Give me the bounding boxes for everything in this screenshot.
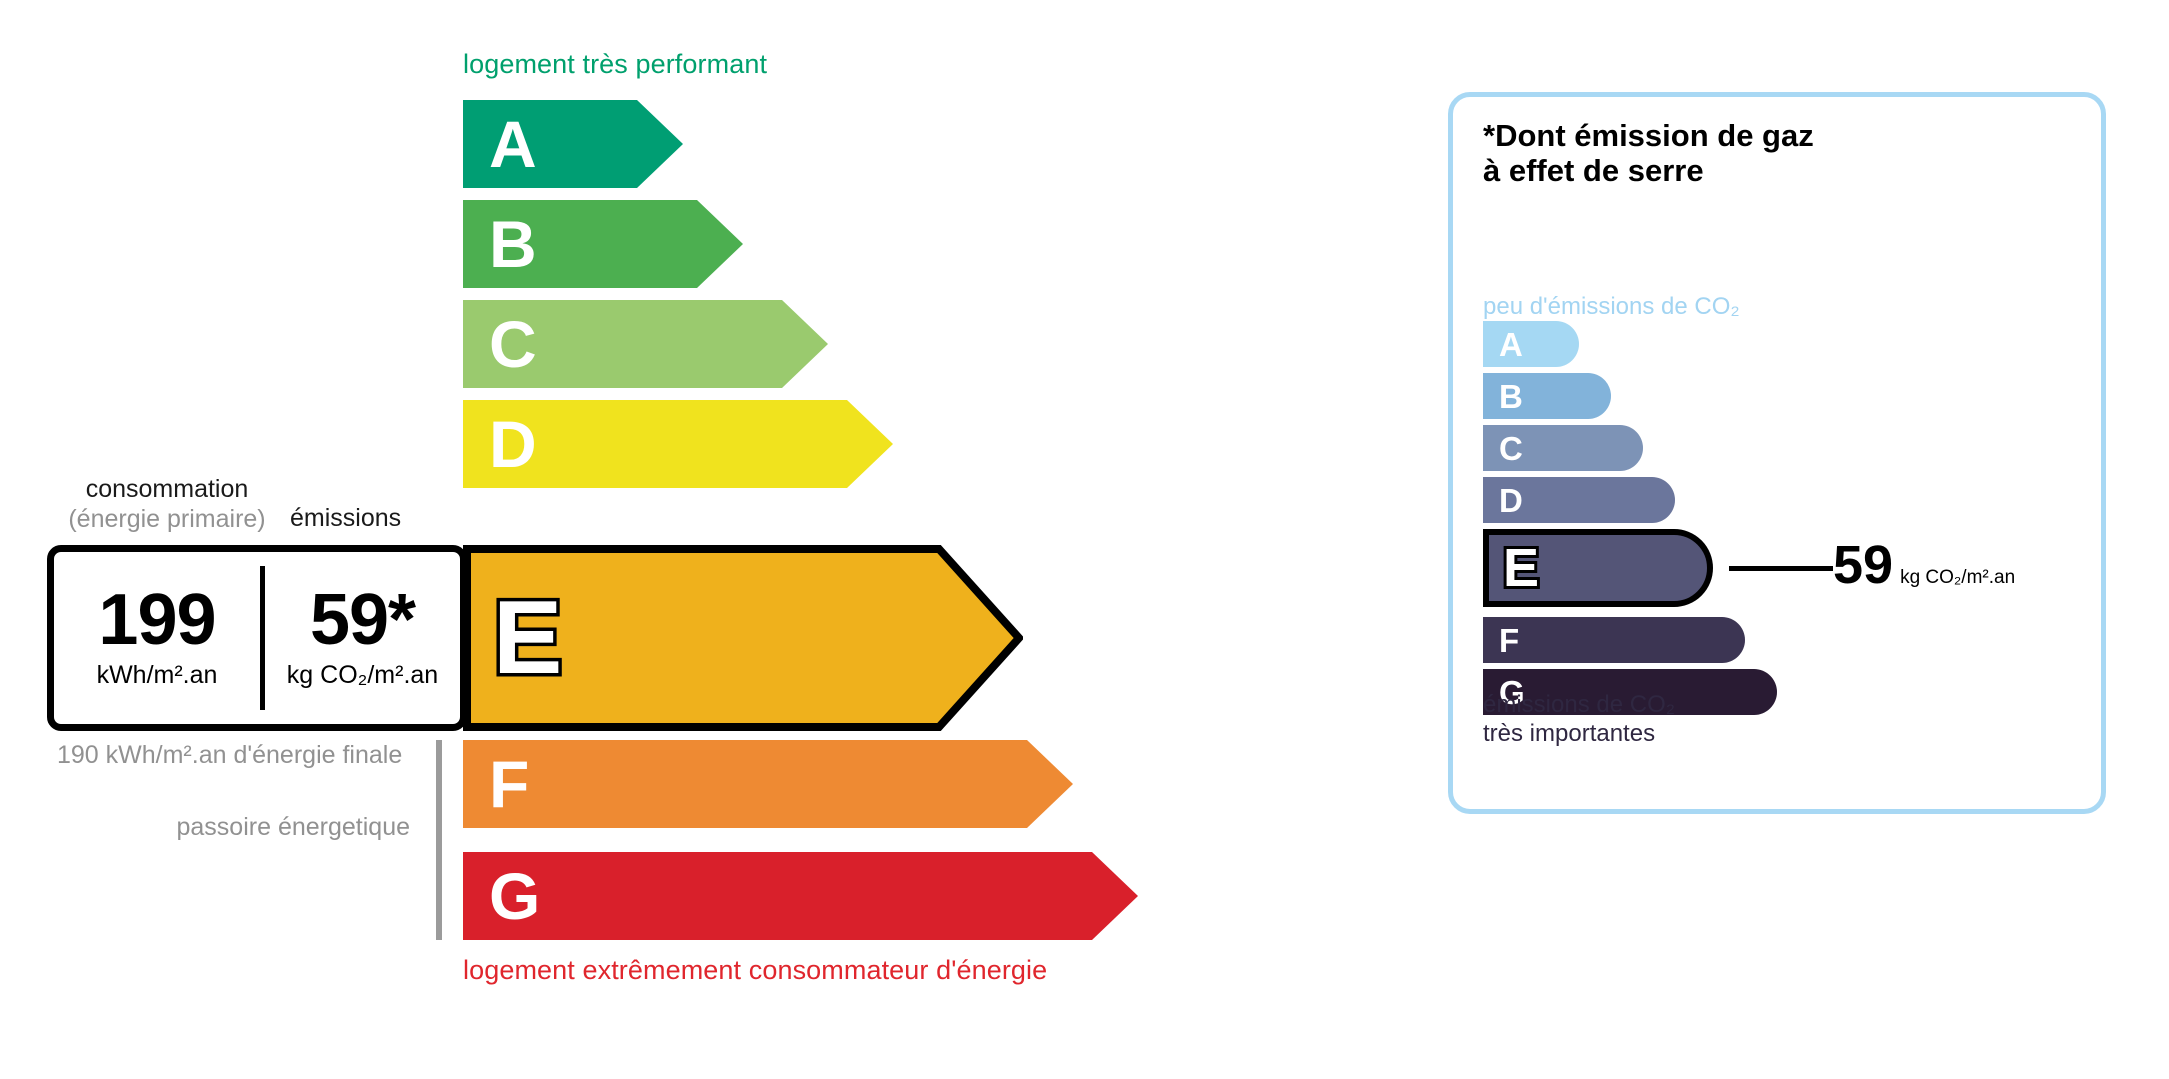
energy-band-letter-c: C	[489, 311, 537, 377]
energy-performance-chart: logement très performant ABCDEFG consomm…	[0, 0, 1340, 1079]
energy-band-letter-b: B	[489, 211, 537, 277]
co2-band-bar-e: E	[1483, 529, 1713, 607]
co2-band-bar-c: C	[1483, 425, 1643, 471]
passoire-energetique-label: passoire énergetique	[140, 812, 410, 842]
consommation-label-sub: (énergie primaire)	[62, 505, 272, 535]
co2-panel-title: *Dont émission de gaz à effet de serre	[1483, 119, 1814, 188]
co2-band-letter-f: F	[1499, 624, 1519, 657]
co2-band-letter-a: A	[1499, 328, 1523, 361]
primary-energy-cell: 199 kWh/m².an	[54, 552, 260, 724]
energy-band-arrow-c: C	[463, 300, 828, 388]
co2-band-a: A	[1483, 321, 1579, 367]
primary-energy-value: 199	[98, 586, 215, 654]
energy-band-arrow-f: F	[463, 740, 1073, 828]
consommation-label: consommation (énergie primaire)	[62, 475, 272, 534]
co2-emission-unit: kg CO₂/m².an	[287, 661, 438, 690]
energy-band-f: F	[463, 740, 1073, 828]
co2-bottom-caption: émissions de CO₂ très importantes	[1483, 691, 1675, 749]
energy-band-arrow-e: E	[463, 545, 1023, 731]
energie-finale-label: 190 kWh/m².an d'énergie finale	[57, 740, 402, 770]
co2-band-e: E	[1483, 529, 1713, 607]
energy-value-box: 199 kWh/m².an 59* kg CO₂/m².an	[47, 545, 467, 731]
energy-band-arrow-g: G	[463, 852, 1138, 940]
co2-band-letter-b: B	[1499, 380, 1523, 413]
energy-band-letter-g: G	[489, 863, 540, 929]
co2-readout-value: 59	[1833, 538, 1893, 592]
consommation-label-main: consommation	[86, 475, 249, 503]
energy-band-letter-f: F	[489, 751, 529, 817]
co2-leader-line	[1729, 566, 1833, 571]
energy-band-shape-f	[463, 740, 1073, 828]
energy-band-arrow-d: D	[463, 400, 893, 488]
energy-band-letter-d: D	[489, 411, 537, 477]
emissions-label: émissions	[290, 504, 401, 533]
co2-band-bar-b: B	[1483, 373, 1611, 419]
co2-band-letter-e: E	[1503, 541, 1539, 595]
co2-band-b: B	[1483, 373, 1611, 419]
co2-emission-value: 59*	[310, 586, 415, 654]
energy-band-letter-a: A	[489, 111, 537, 177]
energy-band-b: B	[463, 200, 743, 288]
energy-bottom-caption: logement extrêmement consommateur d'éner…	[463, 955, 1047, 986]
co2-emission-cell: 59* kg CO₂/m².an	[265, 552, 460, 724]
co2-band-bar-a: A	[1483, 321, 1579, 367]
energy-band-g: G	[463, 852, 1138, 940]
energy-band-arrow-b: B	[463, 200, 743, 288]
co2-band-c: C	[1483, 425, 1643, 471]
passoire-energetique-marker	[436, 740, 442, 940]
co2-readout-unit: kg CO₂/m².an	[1900, 567, 2015, 589]
co2-band-letter-c: C	[1499, 432, 1523, 465]
energy-top-caption: logement très performant	[463, 49, 767, 80]
co2-band-bar-f: F	[1483, 617, 1745, 663]
energy-band-a: A	[463, 100, 683, 188]
co2-top-caption: peu d'émissions de CO₂	[1483, 293, 1740, 321]
co2-readout: 59 kg CO₂/m².an	[1833, 538, 2015, 592]
co2-band-bar-d: D	[1483, 477, 1675, 523]
energy-band-letter-e: E	[493, 586, 562, 690]
energy-band-e: E	[463, 545, 1023, 731]
energy-band-arrow-a: A	[463, 100, 683, 188]
energy-band-shape-g	[463, 852, 1138, 940]
co2-emissions-panel: *Dont émission de gaz à effet de serre p…	[1448, 92, 2106, 814]
energy-band-d: D	[463, 400, 893, 488]
co2-band-f: F	[1483, 617, 1745, 663]
co2-band-d: D	[1483, 477, 1675, 523]
co2-band-letter-d: D	[1499, 484, 1523, 517]
primary-energy-unit: kWh/m².an	[97, 661, 218, 690]
energy-band-c: C	[463, 300, 828, 388]
